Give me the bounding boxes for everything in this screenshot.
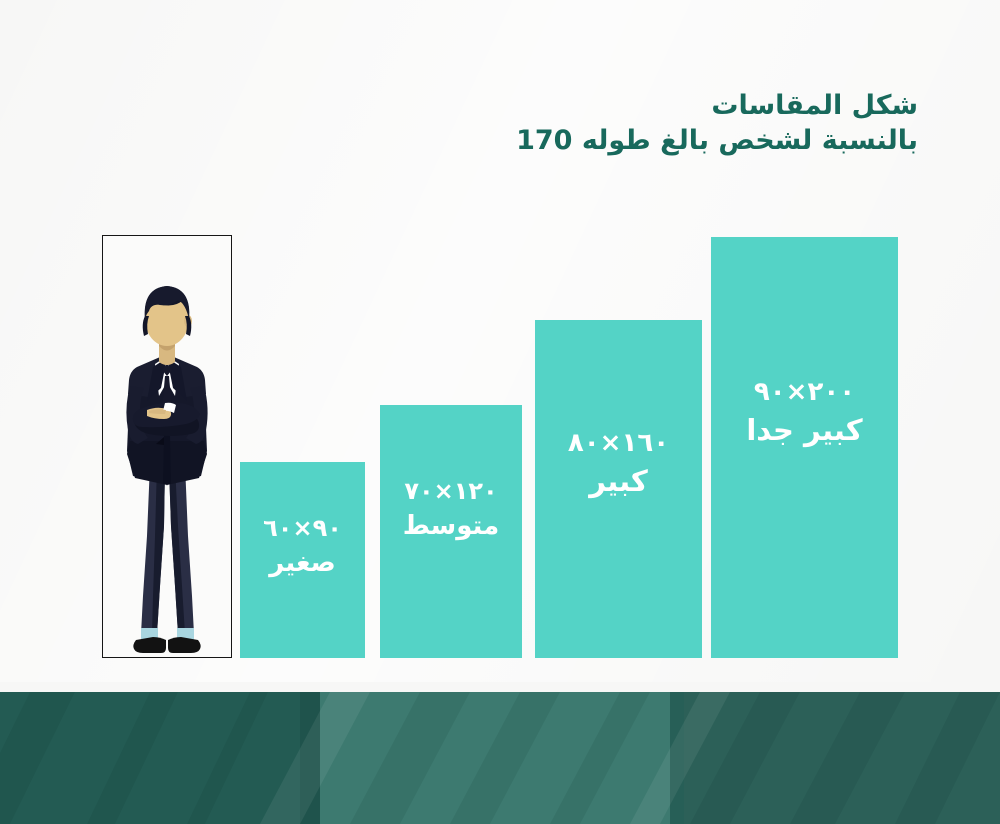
bar-extra-large-dimension: ٢٠٠×٩٠ [754, 377, 855, 407]
bar-large-labels: ١٦٠×٨٠ كبير [535, 428, 702, 498]
page-title: شكل المقاسات بالنسبة لشخص بالغ طوله 170 [516, 88, 918, 158]
bar-extra-large-labels: ٢٠٠×٩٠ كبير جدا [711, 377, 898, 447]
person-figure-icon [103, 236, 231, 657]
band-texture [0, 692, 1000, 824]
bar-medium-labels: ١٢٠×٧٠ متوسط [380, 477, 522, 541]
infographic-canvas: شكل المقاسات بالنسبة لشخص بالغ طوله 170 [0, 0, 1000, 824]
bar-small-labels: ٩٠×٦٠ صغير [240, 514, 365, 578]
bar-medium-name: متوسط [403, 511, 499, 541]
bar-large-name: كبير [589, 464, 648, 498]
title-line-2: بالنسبة لشخص بالغ طوله 170 [516, 123, 918, 158]
bar-large[interactable]: ١٦٠×٨٠ كبير [535, 320, 702, 658]
bar-small[interactable]: ٩٠×٦٠ صغير [240, 462, 365, 658]
bar-medium-dimension: ١٢٠×٧٠ [404, 477, 497, 505]
bar-extra-large[interactable]: ٢٠٠×٩٠ كبير جدا [711, 237, 898, 658]
bar-large-dimension: ١٦٠×٨٠ [568, 428, 669, 458]
bottom-band [0, 692, 1000, 824]
title-line-1: شكل المقاسات [516, 88, 918, 123]
bar-extra-large-name: كبير جدا [746, 413, 862, 447]
bar-small-dimension: ٩٠×٦٠ [263, 514, 342, 542]
bar-medium[interactable]: ١٢٠×٧٠ متوسط [380, 405, 522, 658]
bar-small-name: صغير [269, 548, 336, 578]
